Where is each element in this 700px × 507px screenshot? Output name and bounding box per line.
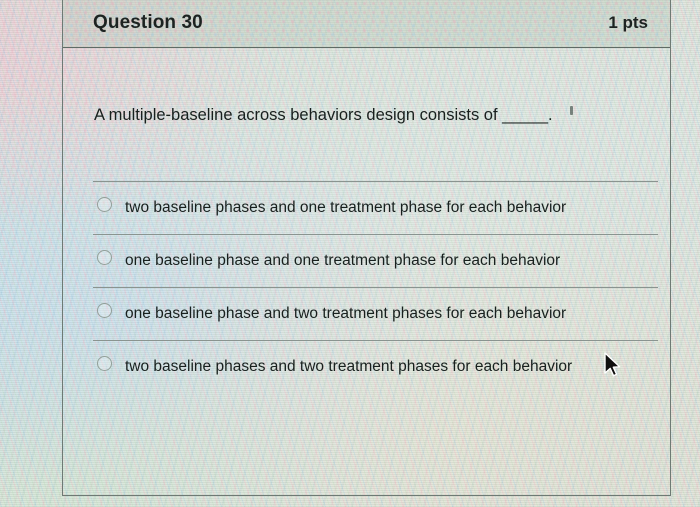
answer-options-list: two baseline phases and one treatment ph… (93, 181, 658, 393)
answer-option-1[interactable]: two baseline phases and one treatment ph… (93, 181, 658, 234)
answer-option-2[interactable]: one baseline phase and one treatment pha… (93, 234, 658, 287)
answer-option-4[interactable]: two baseline phases and two treatment ph… (93, 340, 658, 393)
radio-button-icon[interactable] (97, 250, 112, 265)
answer-option-label: one baseline phase and one treatment pha… (125, 248, 560, 274)
radio-button-icon[interactable] (97, 356, 112, 371)
answer-option-label: two baseline phases and one treatment ph… (125, 195, 566, 221)
answer-option-label: two baseline phases and two treatment ph… (125, 354, 572, 380)
answer-option-3[interactable]: one baseline phase and two treatment pha… (93, 287, 658, 340)
radio-button-icon[interactable] (97, 303, 112, 318)
radio-button-icon[interactable] (97, 197, 112, 212)
screen-dust-speck (570, 106, 573, 115)
question-header: Question 30 1 pts (63, 0, 670, 48)
quiz-question-card: Question 30 1 pts A multiple-baseline ac… (62, 0, 671, 496)
answer-option-label: one baseline phase and two treatment pha… (125, 301, 566, 327)
question-prompt: A multiple-baseline across behaviors des… (94, 99, 634, 132)
question-title: Question 30 (93, 12, 203, 34)
question-points: 1 pts (608, 13, 648, 33)
